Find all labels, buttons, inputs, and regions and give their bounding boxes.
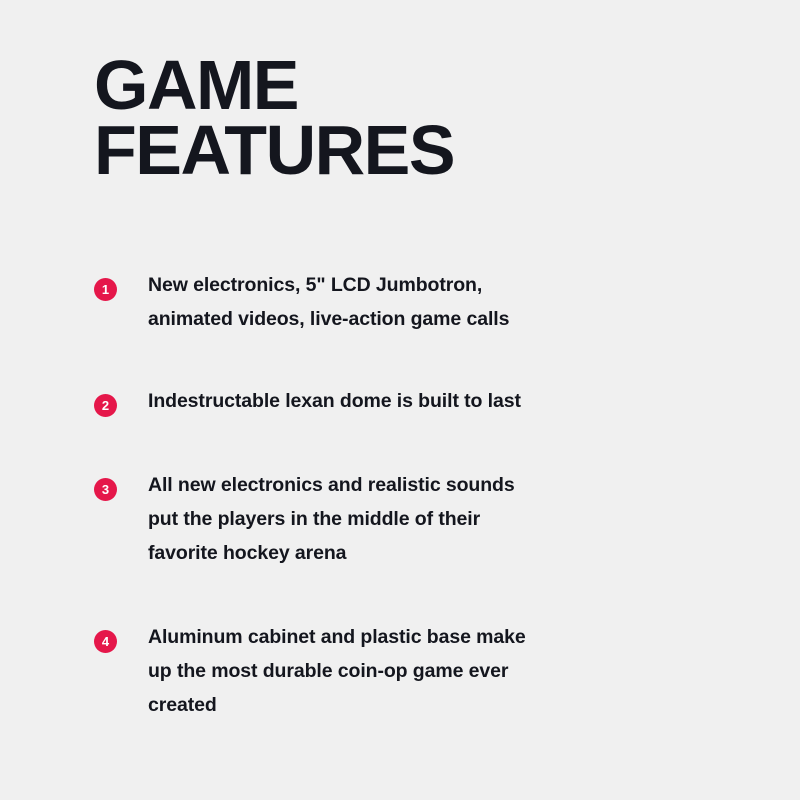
page-title: GAME FEATURES [94, 53, 714, 183]
list-item: 3 All new electronics and realistic soun… [94, 468, 714, 570]
list-item: 1 New electronics, 5" LCD Jumbotron, ani… [94, 268, 714, 336]
feature-text-line: favorite hockey arena [148, 536, 714, 570]
feature-number-badge-2: 2 [94, 394, 117, 417]
list-item: 2 Indestructable lexan dome is built to … [94, 384, 714, 418]
feature-text-line: put the players in the middle of their [148, 502, 714, 536]
feature-text-1: New electronics, 5" LCD Jumbotron, anima… [148, 268, 714, 336]
feature-text-line: All new electronics and realistic sounds [148, 468, 714, 502]
page-title-line-1: GAME [94, 53, 714, 118]
feature-text-line: up the most durable coin-op game ever [148, 654, 714, 688]
feature-text-line: Indestructable lexan dome is built to la… [148, 384, 714, 418]
feature-number-badge-4: 4 [94, 630, 117, 653]
feature-list: 1 New electronics, 5" LCD Jumbotron, ani… [94, 268, 714, 722]
feature-text-line: animated videos, live-action game calls [148, 302, 714, 336]
feature-text-3: All new electronics and realistic sounds… [148, 468, 714, 570]
game-features-page: GAME FEATURES 1 New electronics, 5" LCD … [0, 0, 800, 800]
feature-text-line: created [148, 688, 714, 722]
feature-text-2: Indestructable lexan dome is built to la… [148, 384, 714, 418]
feature-text-line: New electronics, 5" LCD Jumbotron, [148, 268, 714, 302]
feature-text-line: Aluminum cabinet and plastic base make [148, 620, 714, 654]
page-title-line-2: FEATURES [94, 118, 714, 183]
list-item: 4 Aluminum cabinet and plastic base make… [94, 620, 714, 722]
feature-number-badge-1: 1 [94, 278, 117, 301]
feature-text-4: Aluminum cabinet and plastic base make u… [148, 620, 714, 722]
feature-number-badge-3: 3 [94, 478, 117, 501]
